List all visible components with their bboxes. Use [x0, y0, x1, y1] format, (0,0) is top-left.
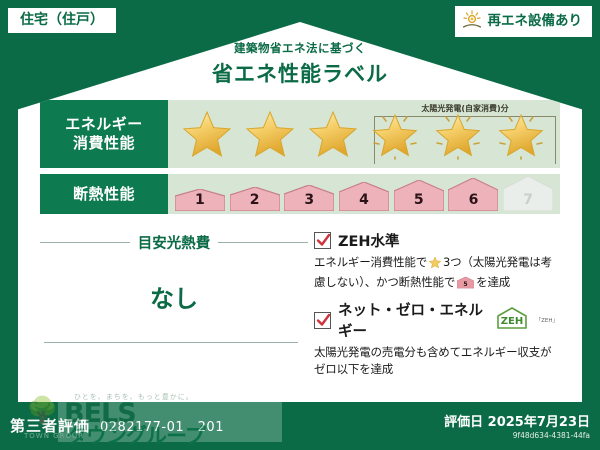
title-main: 省エネ性能ラベル [18, 58, 582, 88]
net-zero-title: ネット・ゼロ・エネルギー [338, 299, 485, 341]
insulation-label: 断熱性能 [73, 185, 135, 204]
insulation-grade-4-value: 4 [338, 192, 390, 208]
certificate-number: 0282177-01 201 [100, 416, 224, 435]
star-icon-solar [368, 108, 422, 160]
star-icon [243, 108, 297, 160]
star-icon [180, 108, 234, 160]
zeh-desc-part3: を達成 [476, 275, 510, 289]
insulation-grade-3: 3 [283, 185, 335, 211]
utility-cost-label: 目安光熱費 [138, 232, 211, 253]
svg-text:5: 5 [464, 281, 468, 288]
sun-icon [461, 10, 483, 33]
evaluation-date-label: 評価日 [444, 415, 483, 430]
energy-performance-label: 住宅（住戸） 再エネ設備あり 建築物省エネ法に基づく [0, 0, 600, 450]
insulation-grade-6: 6 [448, 178, 500, 211]
house-type-badge: 住宅（住戸） [8, 8, 116, 33]
star-icon-solar [431, 108, 485, 160]
renewable-equipment-badge: 再エネ設備あり [455, 6, 593, 37]
evaluation-date-value: 2025年7月23日 [488, 415, 590, 430]
energy-label-line1: エネルギー [65, 115, 143, 134]
insulation-grade-inline: 5 [457, 276, 474, 294]
lower-section: 目安光熱費 なし ZEH水準 [40, 222, 560, 390]
zeh-level-description: エネルギー消費性能で3つ（太陽光発電は考慮しない）、かつ断熱性能で5を達成 [314, 254, 558, 293]
utility-cost-bottom-rule [44, 342, 298, 343]
net-zero-checkbox[interactable] [314, 312, 331, 329]
zeh-level-checkbox[interactable] [314, 232, 331, 249]
insulation-grades: 1 2 3 4 [168, 174, 560, 214]
footer-bar: 第三者評価 0282177-01 201 評価日 2025年7月23日 9f48… [0, 404, 600, 450]
net-zero-energy-block: ネット・ゼロ・エネルギー ZEH 「ZEH」 太陽光発電の売電分も含めてエネルギ… [314, 299, 558, 377]
utility-cost-heading: 目安光熱費 [40, 232, 308, 253]
insulation-grade-1: 1 [174, 189, 226, 211]
house-type-label: 住宅（住戸） [20, 12, 104, 28]
house-panel: 建築物省エネ法に基づく 省エネ性能ラベル エネルギー 消費性能 太陽光発電(自家… [18, 22, 582, 402]
energy-performance-value-cell: 太陽光発電(自家消費)分 [168, 100, 560, 168]
rule-right [218, 242, 308, 243]
insulation-grade-7: 7 [502, 176, 554, 211]
insulation-grade-7-value: 7 [502, 192, 554, 208]
evaluation-hash: 9f48d634-4381-44fa [444, 431, 590, 440]
energy-label-line2: 消費性能 [73, 134, 135, 153]
insulation-performance-row: 断熱性能 1 2 3 [40, 174, 560, 214]
insulation-grade-2: 2 [229, 187, 281, 211]
footer-right: 評価日 2025年7月23日 9f48d634-4381-44fa [444, 411, 590, 440]
energy-performance-label-cell: エネルギー 消費性能 [40, 100, 168, 168]
zeh-desc-part1: エネルギー消費性能で [314, 255, 427, 269]
insulation-grade-6-value: 6 [448, 192, 500, 208]
insulation-grade-5: 5 [393, 180, 445, 211]
insulation-grade-5-value: 5 [393, 192, 445, 208]
zeh-level-block: ZEH水準 エネルギー消費性能で3つ（太陽光発電は考慮しない）、かつ断熱性能で5… [314, 230, 558, 293]
utility-cost-section: 目安光熱費 なし [40, 222, 308, 390]
achievement-checks: ZEH水準 エネルギー消費性能で3つ（太陽光発電は考慮しない）、かつ断熱性能で5… [308, 222, 560, 390]
evaluation-date: 評価日 2025年7月23日 [444, 411, 590, 430]
insulation-grade-4: 4 [338, 182, 390, 211]
zeh-level-title: ZEH水準 [338, 230, 400, 251]
third-party-evaluation-label: 第三者評価 [10, 415, 90, 436]
zeh-trademark: 「ZEH」 [536, 316, 558, 324]
energy-performance-row: エネルギー 消費性能 太陽光発電(自家消費)分 [40, 100, 560, 168]
star-rating [168, 108, 560, 160]
zeh-house-logo-icon: ZEH [495, 306, 529, 334]
insulation-grade-1-value: 1 [174, 192, 226, 208]
footer-left: 第三者評価 0282177-01 201 [10, 415, 224, 436]
utility-cost-value: なし [40, 279, 308, 314]
zeh-level-title-row: ZEH水準 [314, 230, 558, 251]
net-zero-title-row: ネット・ゼロ・エネルギー ZEH 「ZEH」 [314, 299, 558, 341]
star-icon-solar [494, 108, 548, 160]
net-zero-description: 太陽光発電の売電分も含めてエネルギー収支がゼロ以下を達成 [314, 344, 558, 377]
label-title: 建築物省エネ法に基づく 省エネ性能ラベル [18, 40, 582, 88]
renewable-equipment-label: 再エネ設備あり [488, 15, 583, 29]
insulation-performance-label-cell: 断熱性能 [40, 174, 168, 214]
rule-left [40, 242, 130, 243]
title-subtitle: 建築物省エネ法に基づく [18, 40, 582, 56]
insulation-grade-2-value: 2 [229, 192, 281, 208]
star-icon [306, 108, 360, 160]
star-icon [428, 258, 442, 272]
svg-text:ZEH: ZEH [500, 316, 522, 327]
insulation-grade-3-value: 3 [283, 192, 335, 208]
performance-area: エネルギー 消費性能 太陽光発電(自家消費)分 [40, 100, 560, 214]
